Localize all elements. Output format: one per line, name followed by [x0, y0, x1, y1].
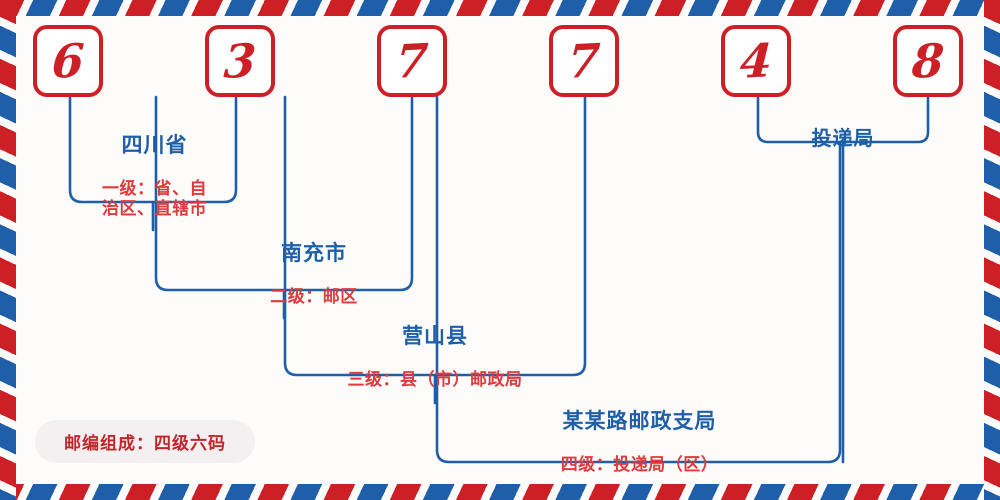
- level-1-label: 四川省 一级：省、自 治区、直辖市: [72, 114, 237, 237]
- legend-text: 邮编组成：四级六码: [64, 429, 226, 454]
- delivery-office-title: 投递局: [760, 127, 926, 151]
- level-4-title: 某某路邮政支局: [452, 409, 827, 434]
- digit-6-glyph: 8: [911, 37, 946, 85]
- legend-pill: 邮编组成：四级六码: [35, 420, 255, 463]
- digit-2-glyph: 3: [223, 37, 258, 85]
- envelope-canvas: 6 3 7 7 4 8 四川省 一级：省、自 治区、直辖市 南充市 二级：邮区 …: [0, 0, 1000, 500]
- digit-card-4[interactable]: 7: [549, 25, 619, 97]
- digit-card-2[interactable]: 3: [205, 25, 275, 97]
- digit-4-glyph: 7: [567, 37, 602, 85]
- digit-card-3[interactable]: 7: [377, 25, 447, 97]
- level-1-subtitle: 一级：省、自 治区、直辖市: [72, 179, 237, 219]
- digit-1-glyph: 6: [51, 37, 86, 85]
- level-3-subtitle: 三级：县（市）邮政局: [300, 370, 570, 390]
- digit-card-1[interactable]: 6: [33, 25, 103, 97]
- digit-card-5[interactable]: 4: [721, 25, 791, 97]
- level-2-title: 南充市: [186, 241, 442, 266]
- level-4-subtitle: 四级：投递局（区）: [452, 455, 827, 475]
- digit-3-glyph: 7: [395, 37, 430, 85]
- level-2-subtitle: 二级：邮区: [186, 287, 442, 307]
- delivery-office-label: 投递局: [760, 108, 926, 169]
- level-1-title: 四川省: [72, 133, 237, 158]
- digit-card-6[interactable]: 8: [893, 25, 963, 97]
- level-3-title: 营山县: [300, 324, 570, 349]
- digit-5-glyph: 4: [739, 37, 774, 85]
- level-4-label: 某某路邮政支局 四级：投递局（区）: [452, 390, 827, 493]
